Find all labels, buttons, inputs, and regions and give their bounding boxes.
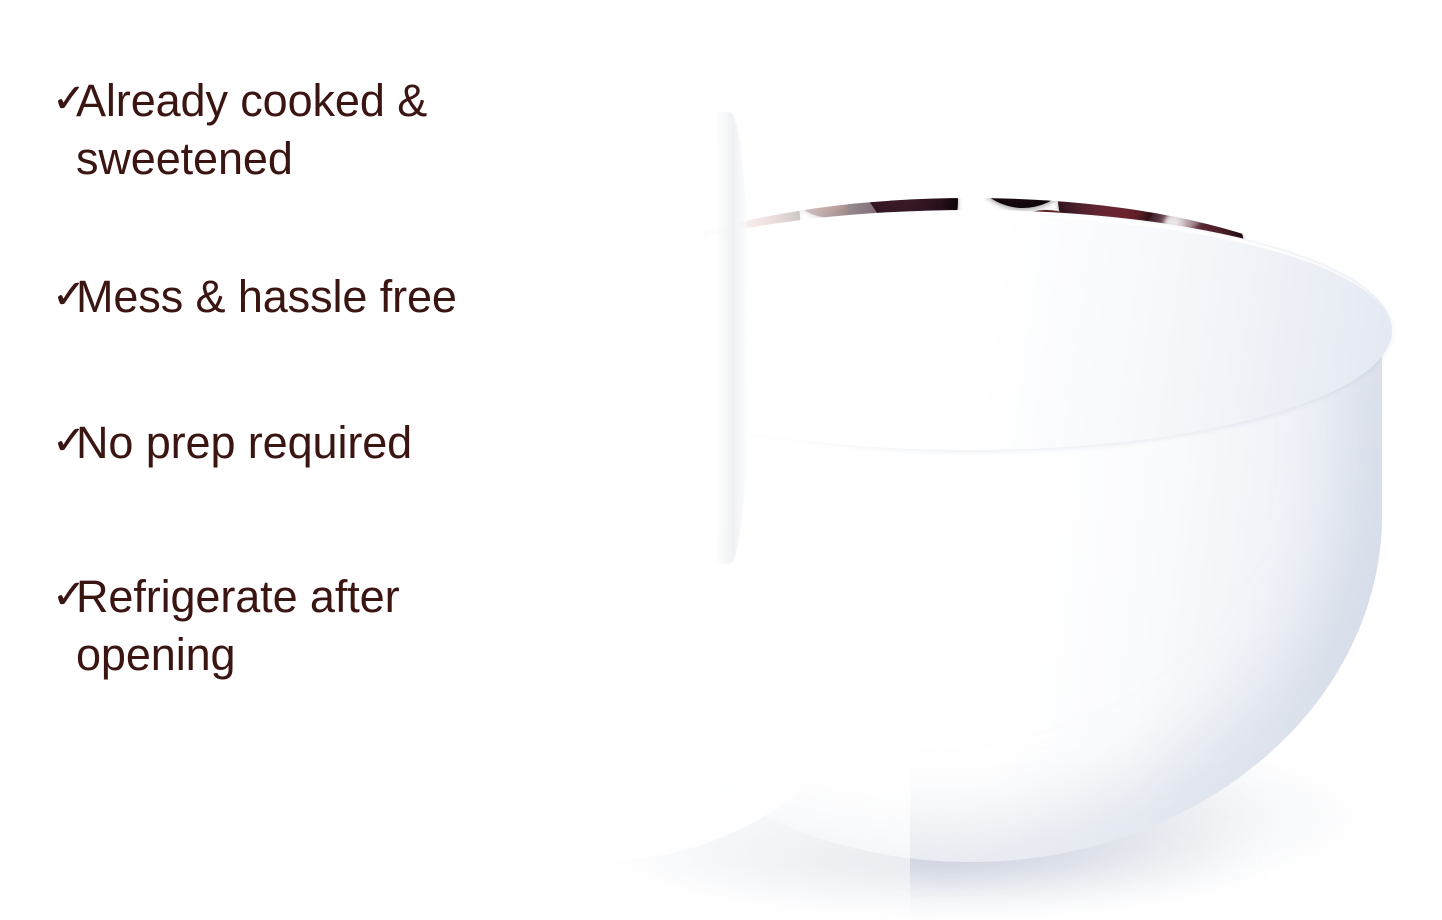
- feature-label-mess-free: Mess & hassle free: [62, 268, 457, 326]
- pearl: [968, 104, 1078, 208]
- list-item: ✓ Refrigerate after opening: [0, 568, 399, 684]
- check-icon: ✓: [0, 414, 62, 468]
- feature-label-already-cooked: Already cooked & sweetened: [62, 72, 427, 188]
- list-item: ✓ No prep required: [0, 414, 412, 472]
- feature-label-refrigerate: Refrigerate after opening: [62, 568, 399, 684]
- feature-label-no-prep: No prep required: [62, 414, 412, 472]
- check-icon: ✓: [0, 568, 62, 622]
- check-icon: ✓: [0, 268, 62, 322]
- feature-list: ✓ Already cooked & sweetened ✓ Mess & ha…: [0, 0, 640, 920]
- pearl: [880, 62, 992, 168]
- list-item: ✓ Already cooked & sweetened: [0, 72, 427, 188]
- feature-image: ✓ Already cooked & sweetened ✓ Mess & ha…: [0, 0, 1442, 920]
- list-item: ✓ Mess & hassle free: [0, 268, 457, 326]
- check-icon: ✓: [0, 72, 62, 126]
